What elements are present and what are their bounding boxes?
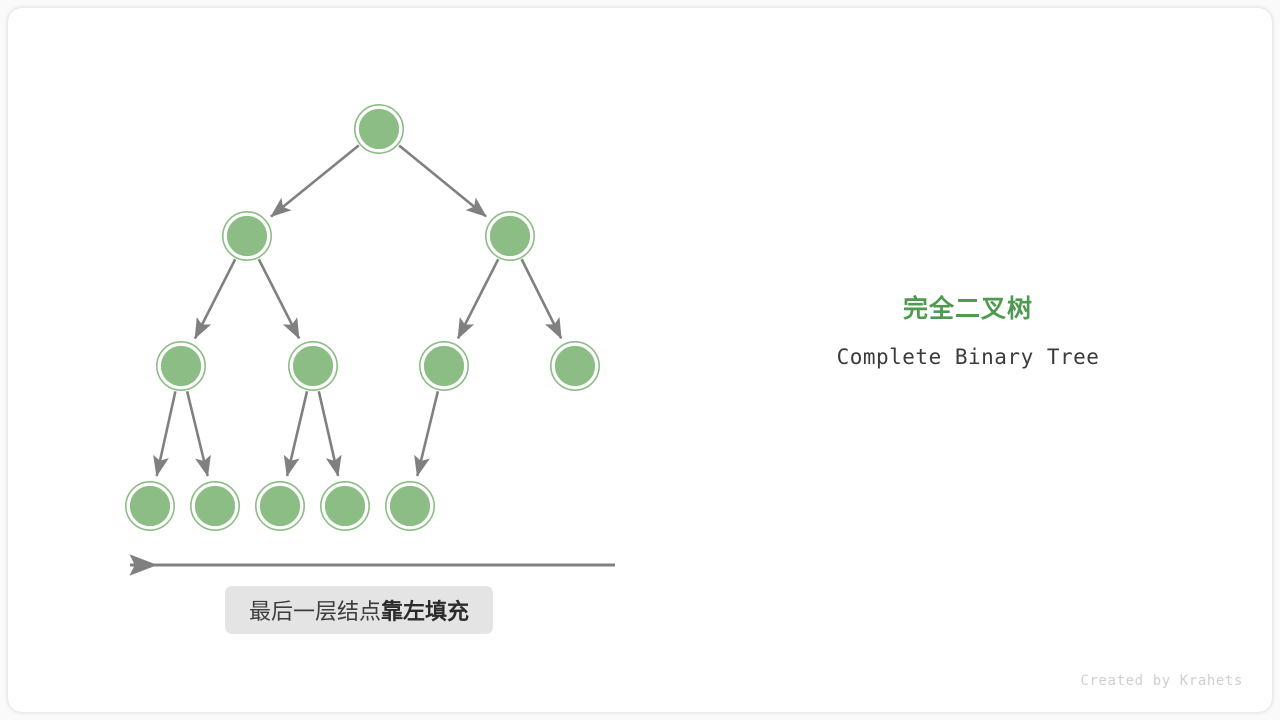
tree-edge xyxy=(287,391,307,476)
node-core xyxy=(423,345,465,387)
tree-node xyxy=(551,342,599,390)
tree-edge xyxy=(187,391,208,476)
tree-node xyxy=(420,342,468,390)
tree-edge xyxy=(271,145,359,216)
caption-title: 完全二叉树 xyxy=(748,294,1188,324)
tree-node xyxy=(486,212,534,260)
tree-node xyxy=(386,482,434,530)
tree-edge xyxy=(157,391,176,475)
node-core xyxy=(554,345,596,387)
tree-edge xyxy=(399,145,486,216)
tree-node xyxy=(223,212,271,260)
tree-node xyxy=(126,482,174,530)
tree-edge xyxy=(458,259,498,338)
node-core xyxy=(358,108,400,150)
tree-edges xyxy=(157,145,561,476)
node-core xyxy=(226,215,268,257)
tree-node xyxy=(157,342,205,390)
node-core xyxy=(292,345,334,387)
tree-node xyxy=(355,105,403,153)
caption-subtitle: Complete Binary Tree xyxy=(748,344,1188,370)
tree-edge xyxy=(195,259,235,338)
tree-node xyxy=(256,482,304,530)
node-core xyxy=(489,215,531,257)
tree-edge xyxy=(319,391,338,475)
node-core xyxy=(259,485,301,527)
node-core xyxy=(389,485,431,527)
diagram-canvas: 完全二叉树 Complete Binary Tree 最后一层结点靠左填充 Cr… xyxy=(0,0,1280,720)
note-chip: 最后一层结点靠左填充 xyxy=(225,586,493,634)
footer-credit: Created by Krahets xyxy=(0,673,1243,689)
tree-edge xyxy=(417,391,438,476)
tree-edge xyxy=(259,259,299,338)
note-text-strong: 靠左填充 xyxy=(381,594,469,626)
tree-nodes xyxy=(126,105,599,530)
node-core xyxy=(160,345,202,387)
tree-node xyxy=(289,342,337,390)
caption-block: 完全二叉树 Complete Binary Tree xyxy=(748,294,1188,370)
node-core xyxy=(194,485,236,527)
node-core xyxy=(324,485,366,527)
tree-node xyxy=(191,482,239,530)
tree-edge xyxy=(522,259,562,338)
node-core xyxy=(129,485,171,527)
note-text-normal: 最后一层结点 xyxy=(249,594,381,626)
tree-node xyxy=(321,482,369,530)
